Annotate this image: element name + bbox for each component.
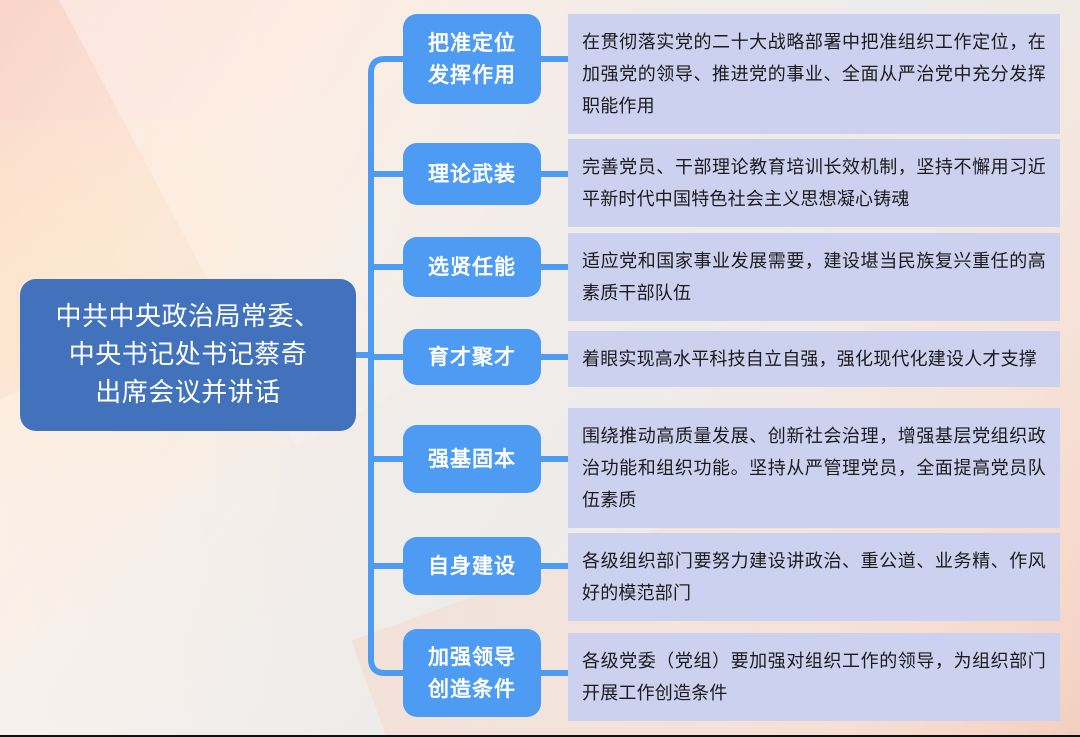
- branch-detail-text: 完善党员、干部理论教育培训长效机制，坚持不懈用习近平新时代中国特色社会主义思想凝…: [582, 151, 1046, 215]
- branch-detail-text: 着眼实现高水平科技自立自强，强化现代化建设人才支撑: [582, 343, 1037, 375]
- branch-detail-panel[interactable]: 各级党委（党组）要加强对组织工作的领导，为组织部门开展工作创造条件: [568, 633, 1060, 721]
- branch-key-label: 自身建设: [428, 550, 516, 582]
- branch-detail-panel[interactable]: 在贯彻落实党的二十大战略部署中把准组织工作定位，在加强党的领导、推进党的事业、全…: [568, 14, 1060, 134]
- branch-key-node[interactable]: 强基固本: [403, 425, 541, 493]
- root-node-label: 中共中央政治局常委、 中央书记处书记蔡奇 出席会议并讲话: [55, 298, 320, 412]
- branch-key-label: 强基固本: [428, 443, 516, 475]
- branch-key-node[interactable]: 选贤任能: [403, 237, 541, 297]
- branch-key-label: 加强领导 创造条件: [428, 641, 516, 705]
- branch-detail-panel[interactable]: 适应党和国家事业发展需要，建设堪当民族复兴重任的高素质干部队伍: [568, 233, 1060, 321]
- branch-detail-text: 适应党和国家事业发展需要，建设堪当民族复兴重任的高素质干部队伍: [582, 245, 1046, 309]
- branch-key-label: 育才聚才: [428, 341, 516, 373]
- branch-detail-text: 各级组织部门要努力建设讲政治、重公道、业务精、作风好的模范部门: [582, 545, 1046, 609]
- branch-detail-panel[interactable]: 着眼实现高水平科技自立自强，强化现代化建设人才支撑: [568, 331, 1060, 387]
- branch-detail-text: 在贯彻落实党的二十大战略部署中把准组织工作定位，在加强党的领导、推进党的事业、全…: [582, 26, 1046, 122]
- branch-key-node[interactable]: 把准定位 发挥作用: [403, 14, 541, 104]
- branch-detail-text: 各级党委（党组）要加强对组织工作的领导，为组织部门开展工作创造条件: [582, 645, 1046, 709]
- branch-key-node[interactable]: 加强领导 创造条件: [403, 629, 541, 717]
- branch-detail-panel[interactable]: 围绕推动高质量发展、创新社会治理，增强基层党组织政治功能和组织功能。坚持从严管理…: [568, 408, 1060, 528]
- root-node[interactable]: 中共中央政治局常委、 中央书记处书记蔡奇 出席会议并讲话: [20, 279, 356, 431]
- branch-key-label: 把准定位 发挥作用: [428, 27, 516, 91]
- branch-detail-panel[interactable]: 各级组织部门要努力建设讲政治、重公道、业务精、作风好的模范部门: [568, 533, 1060, 621]
- mindmap-canvas: 中共中央政治局常委、 中央书记处书记蔡奇 出席会议并讲话 把准定位 发挥作用在贯…: [0, 0, 1080, 737]
- branch-key-node[interactable]: 育才聚才: [403, 329, 541, 385]
- branch-key-label: 选贤任能: [428, 251, 516, 283]
- branch-key-node[interactable]: 理论武装: [403, 143, 541, 205]
- branch-detail-text: 围绕推动高质量发展、创新社会治理，增强基层党组织政治功能和组织功能。坚持从严管理…: [582, 420, 1046, 516]
- branch-key-node[interactable]: 自身建设: [403, 537, 541, 595]
- branch-key-label: 理论武装: [428, 158, 516, 190]
- branch-detail-panel[interactable]: 完善党员、干部理论教育培训长效机制，坚持不懈用习近平新时代中国特色社会主义思想凝…: [568, 139, 1060, 227]
